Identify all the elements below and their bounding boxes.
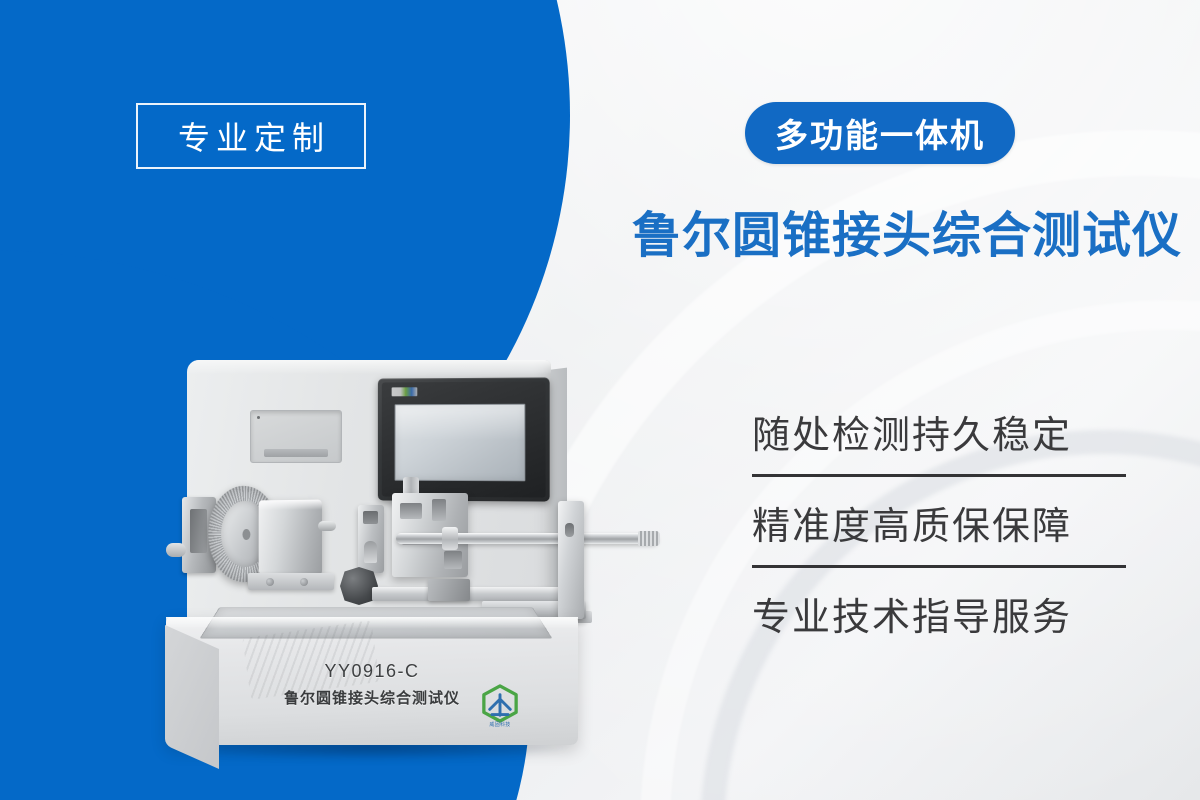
- dial-hub: [242, 529, 250, 540]
- feature-item: 精准度高质保保障: [752, 495, 1130, 568]
- clamp-fixture-notch: [364, 541, 377, 563]
- drive-block-pin: [318, 521, 336, 531]
- rotary-mount-slot: [190, 509, 207, 553]
- torque-drive-block: [259, 500, 322, 575]
- l-bracket-bore: [565, 523, 574, 537]
- feature-label: 专业技术指导服务: [752, 586, 1130, 650]
- feature-list: 随处检测持久稳定 精准度高质保保障 专业技术指导服务: [752, 404, 1130, 650]
- brand-logo-text: 威固科技: [478, 721, 522, 728]
- product-banner: 专业定制 多功能一体机 鲁尔圆锥接头综合测试仪 随处检测持久稳定 精准度高质保保…: [0, 0, 1200, 800]
- feature-label: 随处检测持久稳定: [752, 404, 1130, 468]
- slide-rail-upper: [372, 587, 582, 601]
- feature-item: 随处检测持久稳定: [752, 404, 1130, 477]
- clamp-fixture-left[interactable]: [358, 505, 384, 573]
- shaft-threaded-tip: [638, 531, 660, 546]
- rotary-axle-stub: [166, 543, 186, 557]
- clamp-fixture-slot: [363, 511, 378, 524]
- fixture-cutout: [400, 503, 422, 519]
- test-shaft-rod: [396, 533, 658, 544]
- hexagon-logo-icon: 威固科技: [478, 683, 522, 727]
- rail-carriage[interactable]: [428, 579, 470, 601]
- product-model-label: YY0916-C: [166, 661, 578, 682]
- custom-service-badge: 专业定制: [136, 103, 366, 169]
- drive-block-base-feet: [248, 573, 334, 590]
- fixture-cutout: [444, 551, 462, 569]
- page-title: 鲁尔圆锥接头综合测试仪: [632, 196, 1182, 267]
- drive-block-highlight: [259, 500, 322, 511]
- l-bracket-vertical: [558, 501, 584, 619]
- feature-divider: [752, 474, 1126, 477]
- feature-divider: [752, 565, 1126, 568]
- feature-label: 精准度高质保保障: [752, 495, 1130, 559]
- multifunction-pill-badge: 多功能一体机: [745, 102, 1015, 164]
- fixture-cutout: [432, 499, 446, 521]
- shaft-collar: [442, 527, 458, 550]
- product-machine: YY0916-C 鲁尔圆锥接头综合测试仪 威固科技: [160, 355, 680, 765]
- feature-item: 专业技术指导服务: [752, 586, 1130, 650]
